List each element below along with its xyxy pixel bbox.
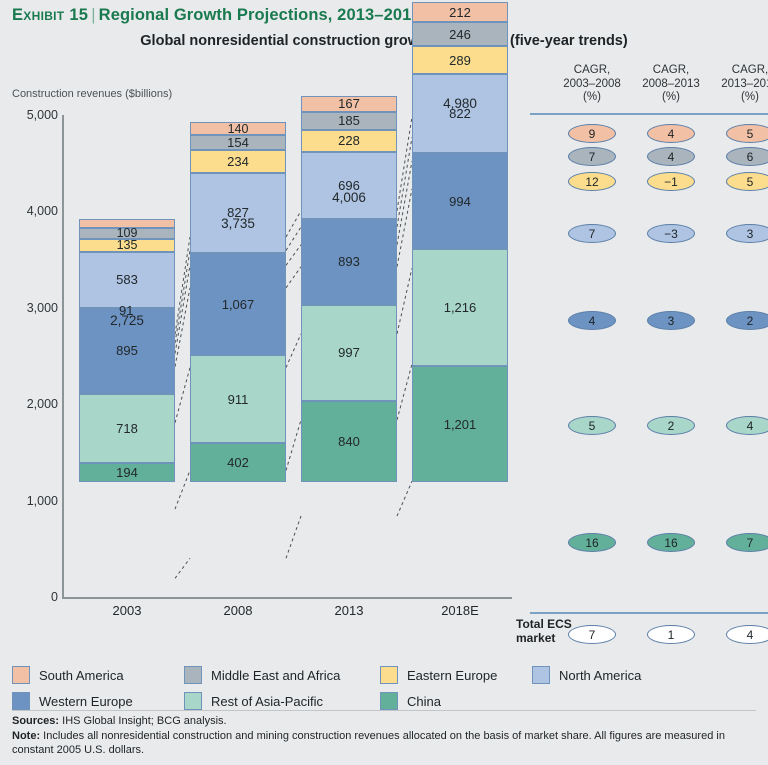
bar-segment-label: 212 xyxy=(449,5,471,20)
bar-segment[interactable]: 583 xyxy=(79,252,175,308)
bar-segment[interactable]: 234 xyxy=(190,150,286,173)
legend-item[interactable]: Rest of Asia-Pacific xyxy=(184,692,323,710)
cagr-oval: 3 xyxy=(726,224,768,243)
bar-segment[interactable]: 212 xyxy=(412,2,508,22)
connector-line xyxy=(175,250,190,343)
note-label: Note: xyxy=(12,730,40,742)
y-axis-tick: 3,000 xyxy=(2,301,58,315)
bar-segment-label: 1,067 xyxy=(222,297,255,312)
y-axis-tick: 0 xyxy=(2,590,58,604)
connector-line xyxy=(397,268,412,334)
cagr-oval: 5 xyxy=(726,172,768,191)
connector-line xyxy=(286,267,301,288)
cagr-oval: 5 xyxy=(568,416,616,435)
total-ecs-oval: 4 xyxy=(726,625,768,644)
sources-label: Sources: xyxy=(12,715,59,727)
bar-segment-label: 997 xyxy=(338,345,360,360)
sources-line: Sources: IHS Global Insight; BCG analysi… xyxy=(12,714,760,729)
legend-label: North America xyxy=(559,668,641,683)
connector-line xyxy=(397,364,412,420)
legend-swatch xyxy=(380,666,398,684)
bar-2018E[interactable]: 2122462898229941,2161,201 xyxy=(412,2,508,482)
cagr-header-l2: 2008–2013 xyxy=(629,78,713,92)
bar-segment-label: 911 xyxy=(228,392,249,407)
chart-legend: South AmericaMiddle East and AfricaEaste… xyxy=(12,662,756,714)
cagr-oval: 4 xyxy=(726,416,768,435)
cagr-header-l1: CAGR, xyxy=(629,64,713,78)
cagr-oval: 16 xyxy=(568,533,616,552)
bar-segment[interactable]: 140 xyxy=(190,122,286,135)
cagr-oval: 3 xyxy=(647,311,695,330)
connector-line xyxy=(286,420,301,471)
bar-segment-label: 583 xyxy=(116,272,138,287)
cagr-oval: 16 xyxy=(647,533,695,552)
legend-row: South AmericaMiddle East and AfricaEaste… xyxy=(12,662,756,688)
cagr-bottom-rule xyxy=(530,612,768,614)
connector-line xyxy=(175,237,190,334)
cagr-oval: 6 xyxy=(726,147,768,166)
bar-segment-label: 194 xyxy=(116,465,138,480)
legend-label: Eastern Europe xyxy=(407,668,497,683)
legend-swatch xyxy=(12,666,30,684)
bar-segment-label: 402 xyxy=(227,455,249,470)
connector-line xyxy=(286,334,301,368)
legend-item[interactable]: North America xyxy=(532,666,641,684)
legend-item[interactable]: China xyxy=(380,692,441,710)
note-line: Note: Includes all nonresidential constr… xyxy=(12,729,760,758)
bar-segment[interactable]: 185 xyxy=(301,112,397,130)
y-axis-tick: 4,000 xyxy=(2,204,58,218)
cagr-oval: 5 xyxy=(726,124,768,143)
bar-segment[interactable]: 154 xyxy=(190,135,286,150)
cagr-oval: 2 xyxy=(647,416,695,435)
cagr-header-l1: CAGR, xyxy=(708,64,768,78)
cagr-oval: 7 xyxy=(726,533,768,552)
bar-segment[interactable]: 135 xyxy=(79,239,175,252)
connector-line xyxy=(175,470,190,509)
chart-plot-area: Construction revenues ($billions) 5,0004… xyxy=(0,0,520,650)
legend-item[interactable]: Middle East and Africa xyxy=(184,666,340,684)
cagr-header-l3: (%) xyxy=(708,91,768,105)
bar-segment[interactable]: 893 xyxy=(301,219,397,305)
bar-segment[interactable]: 402 xyxy=(190,443,286,482)
total-ecs-oval: 7 xyxy=(568,625,616,644)
y-axis-tick: 5,000 xyxy=(2,108,58,122)
connector-line xyxy=(286,516,301,558)
total-ecs-oval: 1 xyxy=(647,625,695,644)
bar-segment-label: 167 xyxy=(338,96,360,111)
legend-swatch xyxy=(12,692,30,710)
bar-segment-label: 234 xyxy=(227,154,249,169)
legend-swatch xyxy=(532,666,550,684)
cagr-top-rule xyxy=(530,113,768,115)
cagr-oval: 4 xyxy=(647,147,695,166)
cagr-header: CAGR,2003–2008(%) xyxy=(550,64,634,105)
bar-segment-label: 289 xyxy=(449,53,471,68)
x-axis-label: 2018E xyxy=(412,603,508,618)
bar-segment[interactable]: 1,067 xyxy=(190,253,286,356)
bar-segment-label: 893 xyxy=(338,254,360,269)
cagr-header-l3: (%) xyxy=(629,91,713,105)
bar-segment[interactable]: 997 xyxy=(301,305,397,401)
cagr-oval: 2 xyxy=(726,311,768,330)
bar-segment[interactable]: 840 xyxy=(301,401,397,482)
bar-segment[interactable]: 1,216 xyxy=(412,249,508,366)
legend-label: China xyxy=(407,694,441,709)
x-axis-line xyxy=(62,597,512,599)
legend-item[interactable]: Eastern Europe xyxy=(380,666,497,684)
connector-line xyxy=(397,189,412,267)
bar-segment-label: 185 xyxy=(338,113,360,128)
bar-segment[interactable]: 109 xyxy=(79,228,175,239)
bar-total-label: 4,006 xyxy=(301,190,397,205)
bar-2008[interactable]: 1401542348271,067911402 xyxy=(190,122,286,482)
legend-swatch xyxy=(380,692,398,710)
connector-line xyxy=(397,137,412,227)
bar-segment-label: 994 xyxy=(449,194,471,209)
x-axis-label: 2008 xyxy=(190,603,286,618)
legend-label: South America xyxy=(39,668,124,683)
bar-segment-label: 154 xyxy=(227,135,249,150)
bar-segment[interactable]: 822 xyxy=(412,74,508,153)
bar-segment[interactable]: 696 xyxy=(301,152,397,219)
bar-2013[interactable]: 167185228696893997840 xyxy=(301,96,397,482)
connector-line xyxy=(286,245,301,266)
y-axis-ticks: 5,0004,0003,0002,0001,0000 xyxy=(0,0,58,650)
cagr-oval: 7 xyxy=(568,224,616,243)
bar-segment-label: 1,201 xyxy=(444,417,477,432)
bar-total-label: 2,725 xyxy=(79,313,175,328)
legend-swatch xyxy=(184,666,202,684)
x-axis-label: 2003 xyxy=(79,603,175,618)
bar-segment[interactable]: 994 xyxy=(412,153,508,249)
cagr-oval: 12 xyxy=(568,172,616,191)
legend-label: Western Europe xyxy=(39,694,133,709)
cagr-oval: −1 xyxy=(647,172,695,191)
cagr-oval: 9 xyxy=(568,124,616,143)
legend-label: Middle East and Africa xyxy=(211,668,340,683)
connector-line xyxy=(175,288,190,367)
bar-segment[interactable]: 194 xyxy=(79,463,175,482)
bar-segment[interactable]: 167 xyxy=(301,96,397,112)
bar-segment-label: 228 xyxy=(338,133,360,148)
y-axis-line xyxy=(62,115,64,598)
y-axis-tick: 2,000 xyxy=(2,397,58,411)
connector-line xyxy=(175,265,190,353)
bar-segment[interactable]: 718 xyxy=(79,394,175,463)
footnote-divider xyxy=(12,710,756,711)
bar-segment-label: 135 xyxy=(117,238,138,252)
footnotes: Sources: IHS Global Insight; BCG analysi… xyxy=(12,714,760,758)
connector-line xyxy=(397,117,412,211)
cagr-header: CAGR,2013–2018(%) xyxy=(708,64,768,105)
y-axis-tick: 1,000 xyxy=(2,494,58,508)
bar-total-label: 3,735 xyxy=(190,216,286,231)
cagr-header-l3: (%) xyxy=(550,91,634,105)
bar-segment[interactable]: 246 xyxy=(412,22,508,46)
cagr-oval: 4 xyxy=(647,124,695,143)
cagr-oval: −3 xyxy=(647,224,695,243)
cagr-header-l2: 2003–2008 xyxy=(550,78,634,92)
connector-line xyxy=(175,558,190,578)
note-text: Includes all nonresidential construction… xyxy=(12,730,725,757)
cagr-header: CAGR,2008–2013(%) xyxy=(629,64,713,105)
bar-segment-label: 718 xyxy=(116,421,138,436)
bar-total-label: 4,980 xyxy=(412,96,508,111)
bar-segment-label: 895 xyxy=(116,343,138,358)
bar-segment[interactable]: 1,201 xyxy=(412,366,508,482)
connector-line xyxy=(286,211,301,237)
sources-text: IHS Global Insight; BCG analysis. xyxy=(62,715,226,727)
x-axis-label: 2013 xyxy=(301,603,397,618)
bar-segment-label: 1,216 xyxy=(444,300,477,315)
legend-swatch xyxy=(184,692,202,710)
bar-segment-label: 140 xyxy=(228,122,249,136)
legend-item[interactable]: Western Europe xyxy=(12,692,133,710)
cagr-oval: 7 xyxy=(568,147,616,166)
bar-segment[interactable]: 827 xyxy=(190,173,286,253)
bar-segment-label: 840 xyxy=(338,434,360,449)
connector-line xyxy=(397,481,412,516)
bar-2003[interactable]: 109135583895718194 xyxy=(79,219,175,482)
cagr-header-l2: 2013–2018 xyxy=(708,78,768,92)
legend-item[interactable]: South America xyxy=(12,666,124,684)
bar-segment-label: 246 xyxy=(449,27,471,42)
bar-segment[interactable]: 911 xyxy=(190,355,286,443)
connector-line xyxy=(397,161,412,245)
connector-line xyxy=(175,368,190,423)
connector-line xyxy=(286,227,301,251)
bar-segment[interactable]: 228 xyxy=(301,130,397,152)
bar-segment[interactable]: 289 xyxy=(412,46,508,74)
legend-label: Rest of Asia-Pacific xyxy=(211,694,323,709)
cagr-panel: CAGR,2003–2008(%)CAGR,2008–2013(%)CAGR,2… xyxy=(516,0,768,650)
cagr-oval: 4 xyxy=(568,311,616,330)
cagr-header-l1: CAGR, xyxy=(550,64,634,78)
